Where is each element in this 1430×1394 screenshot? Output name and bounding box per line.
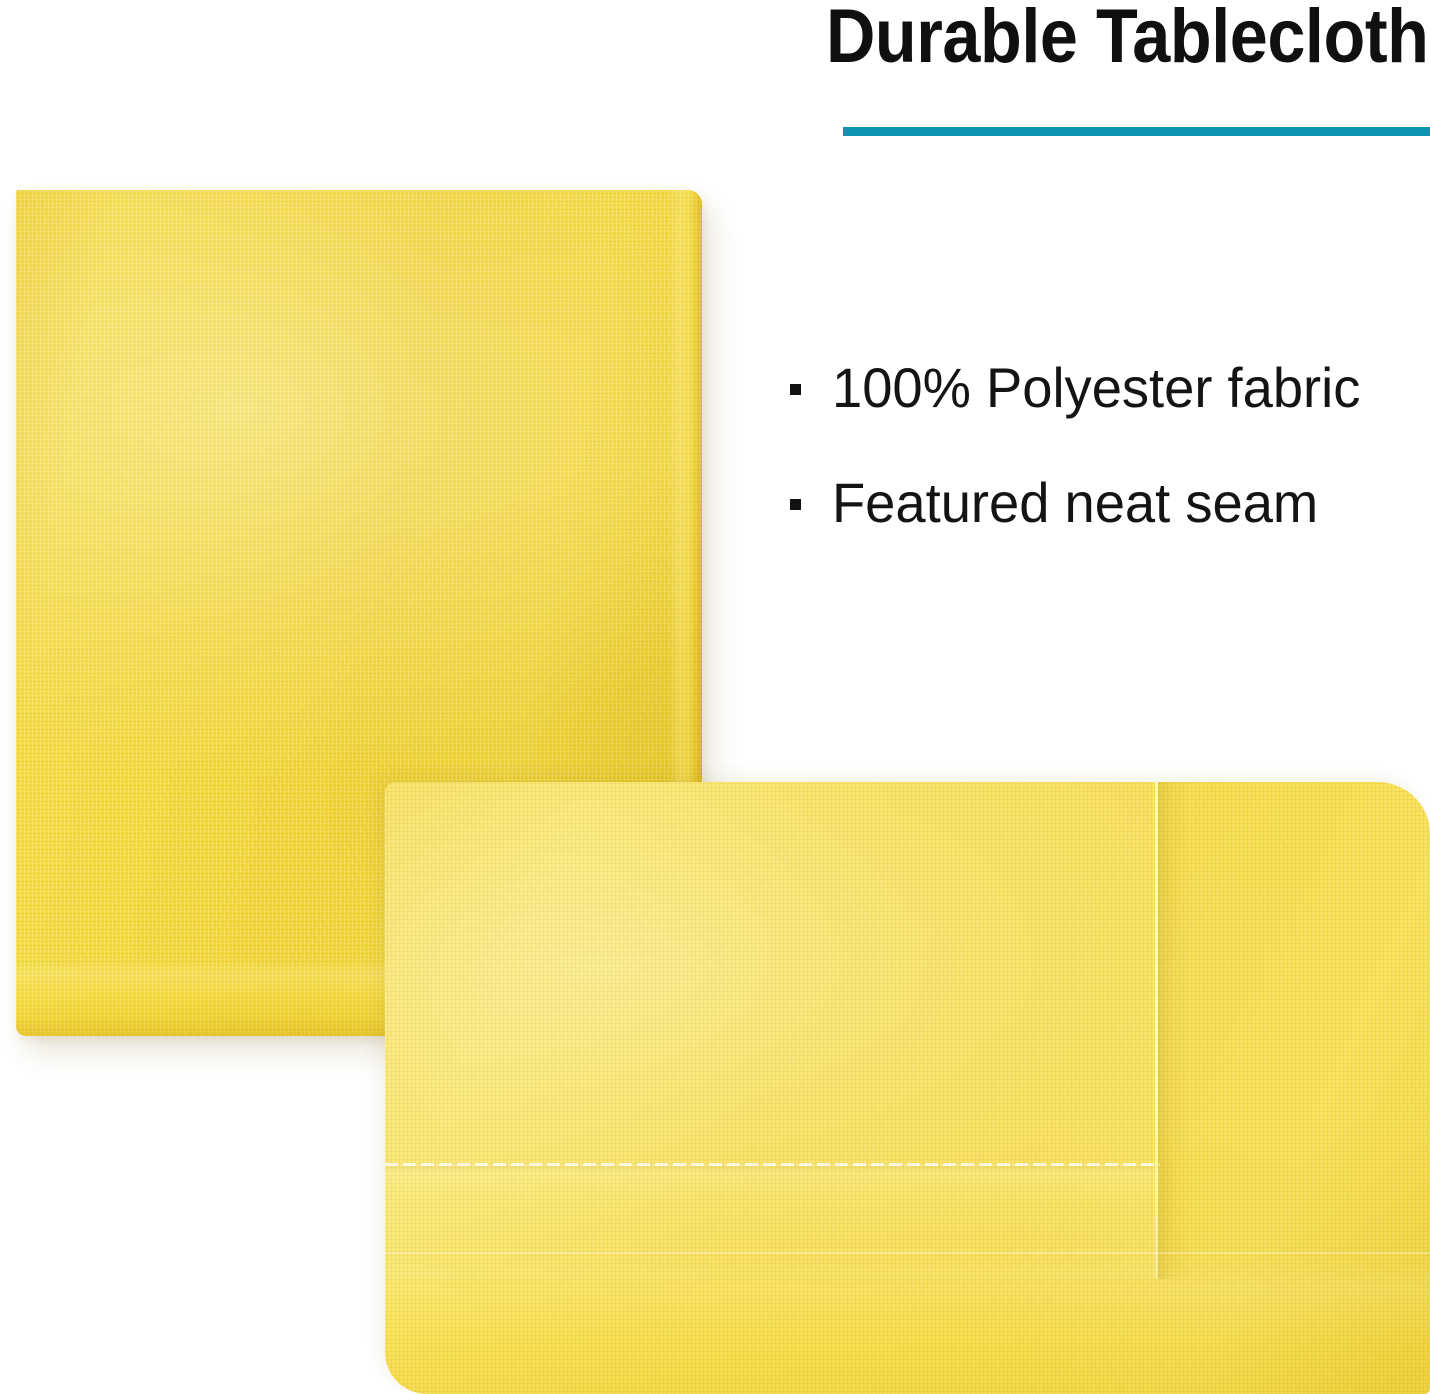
bottom-hem-crease: [385, 1252, 1430, 1254]
headline-block: Durable Tablecloth: [640, 0, 1430, 150]
list-item: Featured neat seam: [788, 467, 1428, 539]
product-feature-graphic: Durable Tablecloth 100% Polyester fabric…: [0, 0, 1430, 1394]
product-image-hem-corner: [385, 782, 1430, 1394]
hem-seam-stitch-line: [385, 1163, 1160, 1166]
fabric-weft-texture: [385, 782, 1430, 1394]
title-underline-rule: [843, 127, 1430, 136]
fabric-highlight: [385, 782, 1430, 1394]
feature-list: 100% Polyester fabric Featured neat seam: [788, 352, 1428, 582]
fabric-twill-sheen: [385, 782, 1430, 1394]
fold-crease-line: [1155, 782, 1158, 1279]
feature-label: Featured neat seam: [832, 467, 1318, 539]
fabric-warp-texture: [385, 782, 1430, 1394]
page-title: Durable Tablecloth: [825, 0, 1428, 80]
bottom-hem-fold: [385, 1252, 1430, 1394]
feature-label: 100% Polyester fabric: [832, 352, 1360, 424]
square-bullet-icon: [790, 499, 801, 510]
square-bullet-icon: [790, 384, 801, 395]
hem-band: [385, 1166, 1160, 1262]
fold-crease-shadow: [1158, 782, 1192, 1279]
folded-flap-face: [385, 782, 1157, 1279]
list-item: 100% Polyester fabric: [788, 352, 1428, 424]
